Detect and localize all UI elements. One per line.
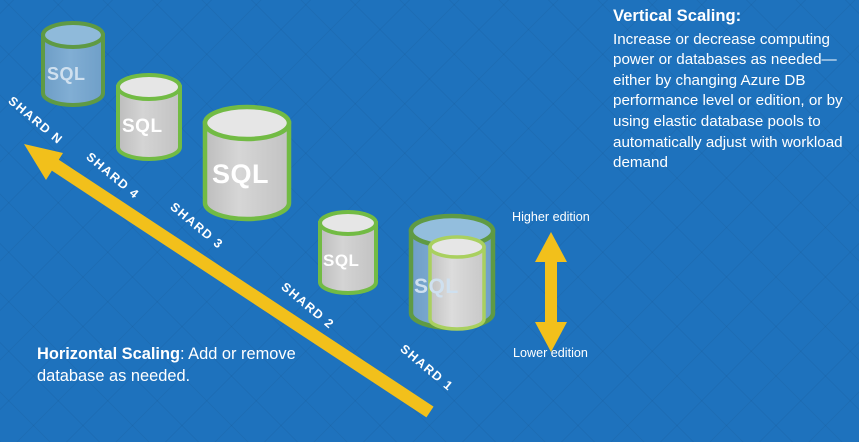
shard-cylinder-shard-3[interactable]: SQL [202, 103, 292, 223]
lower-edition-label: Lower edition [513, 346, 588, 360]
shard-1-inner-cylinder [430, 247, 484, 329]
edition-arrow-head-up [535, 232, 567, 262]
diagram-canvas: SQL SQL [0, 0, 859, 442]
shard-cylinder-shard-1[interactable]: SQL [408, 213, 500, 335]
higher-edition-label: Higher edition [512, 210, 590, 224]
shard-cylinder-shard-n[interactable]: SQL [40, 20, 106, 108]
vertical-scaling-heading-colon: : [736, 6, 742, 25]
vertical-scaling-heading: Vertical Scaling [613, 6, 736, 25]
horizontal-scaling-heading-suffix: : Add or [180, 345, 237, 363]
horizontal-scaling-heading: Horizontal Scaling [37, 345, 180, 363]
vertical-scaling-text-block: Vertical Scaling: Increase or decrease c… [613, 6, 853, 174]
edition-arrow-shaft [545, 252, 557, 331]
shard-1-inner-top [430, 237, 484, 257]
scaling-arrow-head [24, 144, 63, 180]
vertical-scaling-body: Increase or decrease computing power or … [613, 30, 853, 174]
shard-cylinder-shard-2[interactable]: SQL [317, 209, 379, 296]
horizontal-scaling-text-block: Horizontal Scaling: Add or remove databa… [37, 343, 307, 387]
shard-cylinder-shard-4[interactable]: SQL [115, 72, 183, 162]
shard-label-shard-1: SHARD 1 [398, 342, 457, 394]
